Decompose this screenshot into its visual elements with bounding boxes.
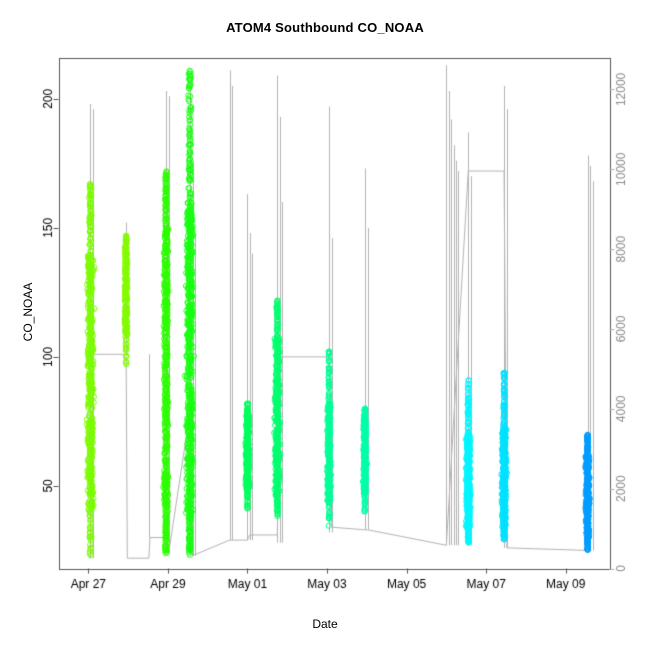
y-axis-label: CO_NOAA — [21, 232, 35, 392]
page-title: ATOM4 Southbound CO_NOAA — [0, 20, 650, 35]
plot-page: ATOM4 Southbound CO_NOAA Date CO_NOAA — [0, 0, 650, 650]
scatter-plot-canvas — [0, 0, 650, 650]
x-axis-label: Date — [0, 617, 650, 631]
